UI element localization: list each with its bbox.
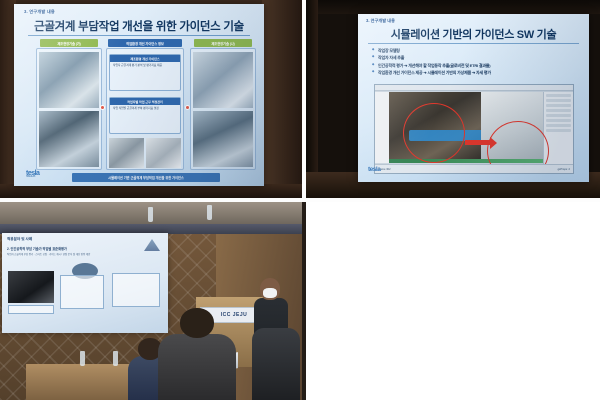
slide2-title: 시뮬레이션 기반의 가이던스 SW 기술 xyxy=(358,26,589,42)
panel-photo-audience-room: 적용분야 및 사례 2. 인간공학적 부담 기술가 작업별 표준화평가 작업자 … xyxy=(0,202,302,400)
photo-simulation-b xyxy=(146,138,181,168)
water-bottle xyxy=(113,351,118,366)
app-left-pane xyxy=(375,92,389,163)
photo-worker-lab-2 xyxy=(39,111,99,167)
slide2-bullet-3: 인간공학적 평가 ➔ 개선해야 할 작업동작 추출(글로비전 및 ETRI 결과… xyxy=(372,62,582,69)
slide1-label-center: 작업환경 개선 가이던스 정보 xyxy=(108,39,182,47)
slide1-info-box-2-header: 작업자별 작업 근무 적정관리 xyxy=(110,98,180,105)
divider-horizontal-right xyxy=(306,198,600,202)
connector-dot-left xyxy=(100,105,105,110)
tesla-logo-subtext: TESLA LAB xyxy=(26,175,56,178)
slide3-eyebrow: 적용분야 및 사례 xyxy=(7,237,32,242)
slide1-title: 근골겨계 부담작업 개선을 위한 가이던스 기술 xyxy=(14,18,264,34)
slide3-subtitle: 2. 인간공학적 부담 기술가 작업별 표준화평가 xyxy=(7,246,67,251)
status-props: gsProps: 2 xyxy=(558,168,570,171)
pane-item xyxy=(546,119,571,122)
projection-screen-2: 3. 연구개발 내용 시뮬레이션 기반의 가이던스 SW 기술 작업장 모델링 … xyxy=(358,14,589,182)
projection-screen-3: 적용분야 및 사례 2. 인간공학적 부담 기술가 작업별 표준화평가 작업자 … xyxy=(2,233,168,333)
slide3-body: 작업자 근골격계 부담 평가 · 스마트 공정 · 가이드 제시 / 현장 분석… xyxy=(7,253,163,257)
audience-body xyxy=(158,334,236,400)
slide3-card-1 xyxy=(8,305,54,314)
pane-item xyxy=(546,124,571,127)
slide1-caption: 시뮬레이션 기반 근골격계 부담작업 개선을 위한 가이던스 xyxy=(72,173,220,182)
slide3-card-2 xyxy=(60,275,104,309)
slide2-bullet-2: 작업자 자세 추출 xyxy=(372,54,582,61)
panel-slide-musculoskeletal-guidance: 3. 연구개발 내용 근골겨계 부담작업 개선을 위한 가이던스 기술 제조현장… xyxy=(0,0,302,198)
audience-member-foreground xyxy=(158,308,236,400)
photo-collage: 3. 연구개발 내용 근골겨계 부담작업 개선을 위한 가이던스 기술 제조현장… xyxy=(0,0,600,400)
photo-worker-lab-1 xyxy=(39,52,99,108)
software-screenshot: Frame 302 gsProps: 2 xyxy=(374,84,574,174)
ceiling-dark xyxy=(306,0,600,14)
slide2-bullet-4: 작업환경 개선 가이던스 제공 ➔ 시뮬레이션 기반의 가상제품 ➔ 자세 평가 xyxy=(372,69,582,76)
connector-dot-right xyxy=(185,105,190,110)
app-right-pane xyxy=(543,92,573,173)
pane-item xyxy=(546,109,571,112)
tesla-lab-logo-2: tesla xyxy=(368,166,380,173)
photo-simulation-a xyxy=(109,138,144,168)
slide1-label-right: 제조현장기술 (나) xyxy=(194,39,252,47)
wall-bottom xyxy=(0,184,302,198)
left-edge-dark xyxy=(302,202,306,400)
slide2-bullet-list: 작업장 모델링 작업자 자세 추출 인간공학적 평가 ➔ 개선해야 할 작업동작… xyxy=(372,47,582,77)
audience-body xyxy=(252,328,300,400)
slide2-rule xyxy=(368,43,579,44)
pane-item xyxy=(546,129,571,132)
pane-item xyxy=(546,99,571,102)
slide3-brand-logo xyxy=(144,239,160,251)
red-arrow-icon xyxy=(465,140,491,145)
conference-table xyxy=(26,364,138,400)
tesla-lab-logo: tesla TESLA LAB xyxy=(26,170,56,184)
water-bottle xyxy=(80,351,85,366)
audience-member xyxy=(252,328,300,400)
slide1-rule xyxy=(28,35,250,36)
pane-item xyxy=(546,104,571,107)
panel-photo-speaker: 인간공학자 공학의 사고가 내재화된 인재) 학 부 대학원 산업공학 인간공학… xyxy=(302,202,306,400)
projection-screen-1: 3. 연구개발 내용 근골겨계 부담작업 개선을 위한 가이던스 기술 제조현장… xyxy=(14,4,264,186)
photo-worker-lab-3 xyxy=(193,52,253,108)
slide1-info-box-2: 작업자별 작업 근무 적정관리 작업 작업별 근골격계 부하 평가지표 설정 xyxy=(109,97,181,134)
water-bottle xyxy=(148,207,153,222)
pane-item xyxy=(546,94,571,97)
slide1-mini-photos xyxy=(109,138,181,168)
face-mask xyxy=(263,288,277,298)
app-status-bar: Frame 302 gsProps: 2 xyxy=(375,164,573,173)
pane-item xyxy=(546,114,571,117)
photo-device xyxy=(8,271,54,303)
audience-head xyxy=(180,308,214,338)
panel-slide-simulation-sw: 3. 연구개발 내용 시뮬레이션 기반의 가이던스 SW 기술 작업장 모델링 … xyxy=(306,0,600,198)
slide1-label-left: 제조현장기술 (가) xyxy=(40,39,98,47)
slide1-eyebrow: 3. 연구개발 내용 xyxy=(24,9,55,15)
slide2-eyebrow: 3. 연구개발 내용 xyxy=(366,18,395,24)
wall-left-dark xyxy=(306,0,318,198)
water-bottle xyxy=(207,205,212,220)
app-toolbar xyxy=(375,85,573,91)
slide1-info-box-1-line-1: 작업자 근골격계 평가 분석 및 평가지표 제공 xyxy=(110,62,180,70)
highlight-circle-left xyxy=(403,103,465,163)
slide2-bullet-1: 작업장 모델링 xyxy=(372,47,582,54)
slide1-info-box-1-header: 제조환경 개선 가이던스 xyxy=(110,55,180,62)
photo-worker-lab-4 xyxy=(193,111,253,167)
wall-right xyxy=(262,0,302,198)
slide3-card-3 xyxy=(112,273,160,307)
slide1-info-box-1: 제조환경 개선 가이던스 작업자 근골격계 평가 분석 및 평가지표 제공 xyxy=(109,54,181,91)
slide1-info-box-2-line-1: 작업 작업별 근골격계 부하 평가지표 설정 xyxy=(110,105,180,113)
